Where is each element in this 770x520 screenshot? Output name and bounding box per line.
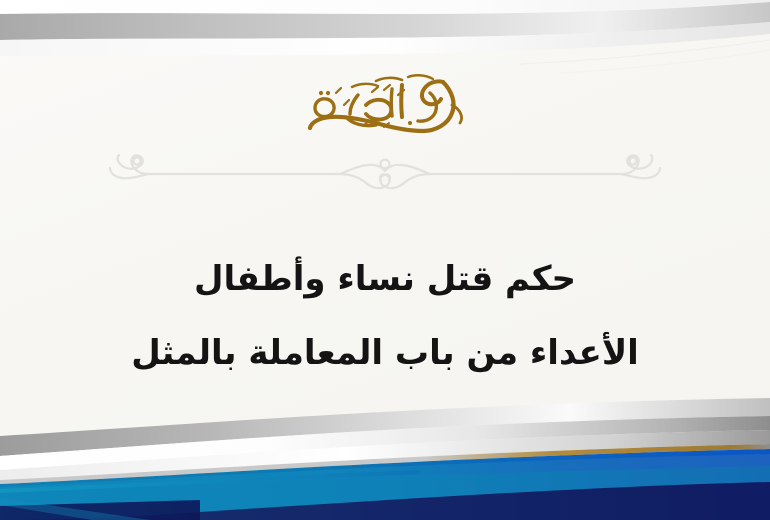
title-line-2: الأعداء من باب المعاملة بالمثل [0,336,770,370]
ornamental-divider [40,152,730,196]
title-line-1: حكم قتل نساء وأطفال [0,262,770,296]
ala-baseera-calligraphy-logo: على بصيرة [280,65,490,145]
swirl-flourish-right [622,155,660,178]
brand-logo: على بصيرة [0,62,770,148]
swirl-flourish-left [110,155,148,178]
divider-graphic [40,152,730,196]
title-slide: على بصيرة [0,0,770,520]
double-scroll-flourish-center [340,160,430,189]
slide-title: حكم قتل نساء وأطفال الأعداء من باب المعا… [0,262,770,370]
